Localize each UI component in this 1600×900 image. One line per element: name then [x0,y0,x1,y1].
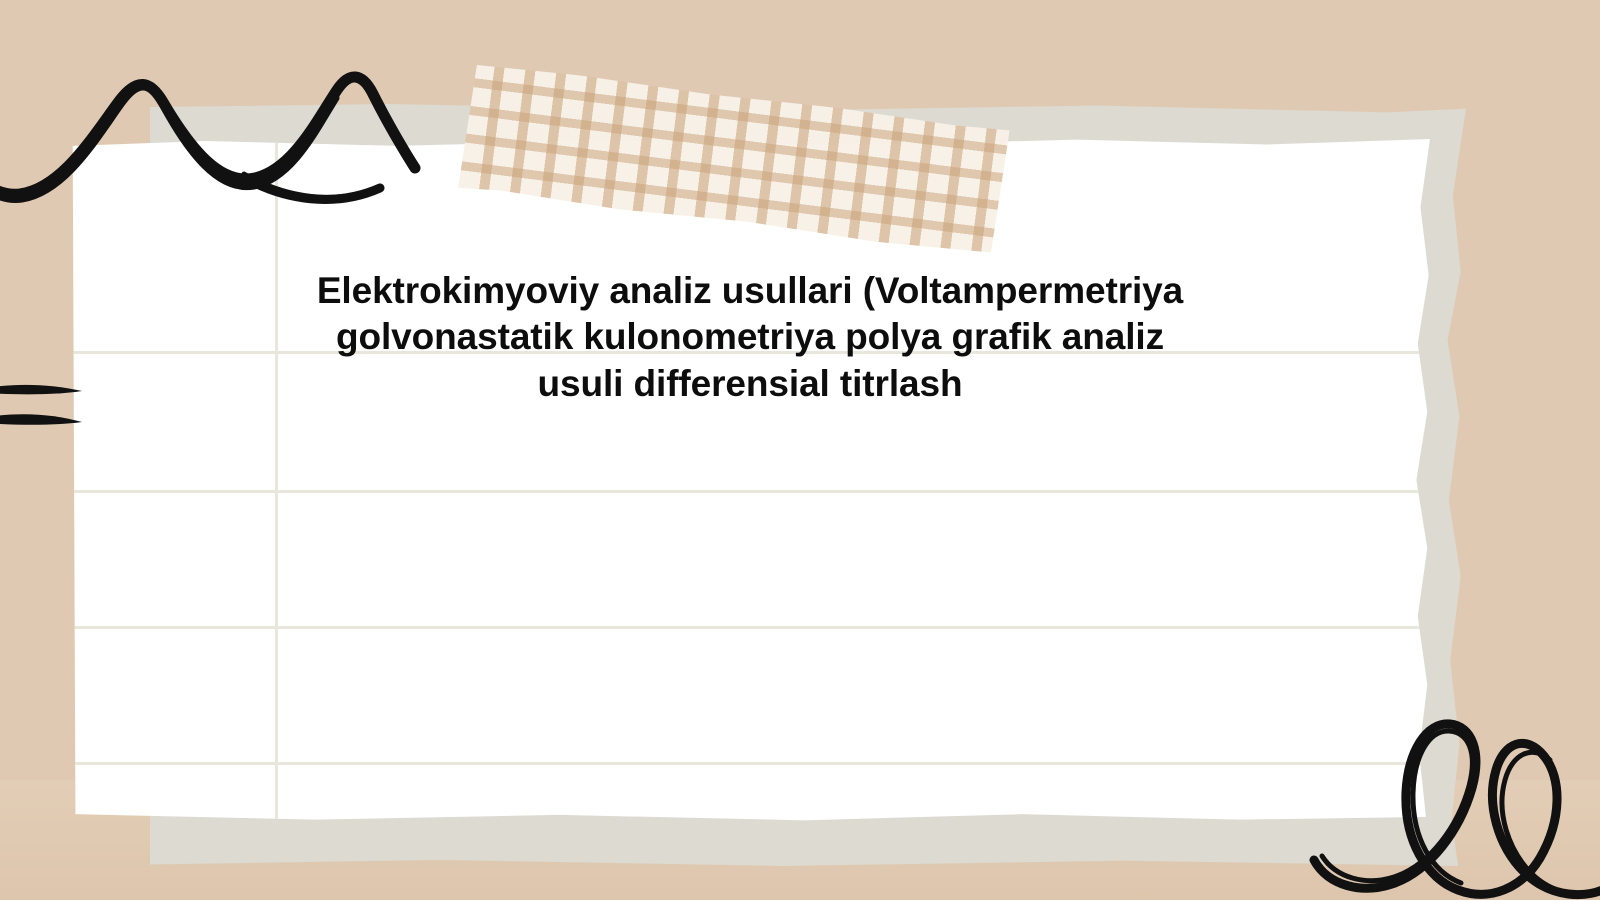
notebook-paper [70,139,1430,821]
title-line-3: usuli differensial titrlash [250,361,1250,407]
title-line-1: Elektrokimyoviy analiz usullari (Voltamp… [250,268,1250,314]
margin-line [275,139,278,821]
rule-line [70,762,1430,765]
title-line-2: golvonastatik kulonometriya polya grafik… [250,314,1250,360]
slide-title: Elektrokimyoviy analiz usullari (Voltamp… [250,268,1250,407]
rule-line [70,490,1430,493]
slide-canvas: Elektrokimyoviy analiz usullari (Voltamp… [0,0,1600,900]
rule-line [70,626,1430,629]
